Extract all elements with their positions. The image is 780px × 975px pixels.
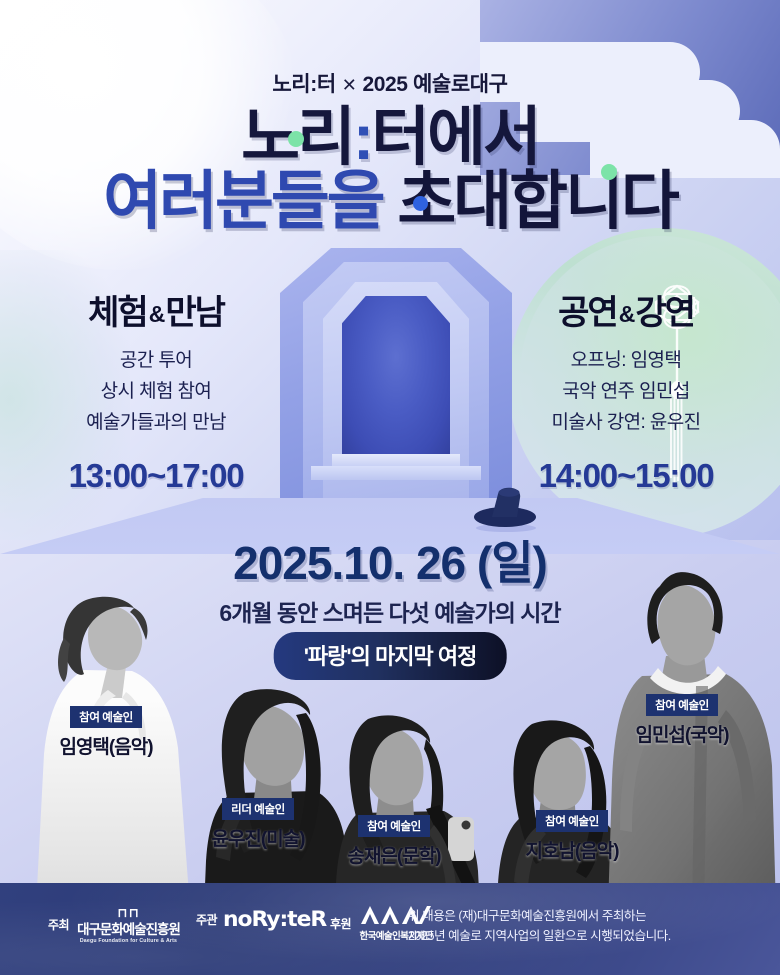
status-badge-role: 참여 예술인 xyxy=(536,810,608,832)
arch-doorway xyxy=(342,296,450,456)
artist-tag-1: 참여 예술인 임영택(음악) xyxy=(30,706,182,759)
list-item: 예술가들과의 만남 xyxy=(22,408,290,439)
noriter-logo: noRy:teR xyxy=(223,907,326,931)
panel-experience: 체험&만남 공간 투어 상시 체험 참여 예술가들과의 만남 13:00~17:… xyxy=(22,296,290,495)
panel-left-heading-a: 체험 xyxy=(88,294,147,332)
host-logo-kr: 대구문화예술진흥원 xyxy=(77,923,180,937)
support-label: 후원 xyxy=(330,915,351,932)
event-poster: 노리:터✕2025 예술로대구 노리:터에서 여러분들을 초대합니다 체험&만남 xyxy=(0,0,780,975)
footer-note-line-1: 위 내용은 (재)대구문화예술진흥원에서 주최하는 xyxy=(408,907,764,927)
panel-left-items: 공간 투어 상시 체험 참여 예술가들과의 만남 xyxy=(22,346,290,439)
ampersand-icon: & xyxy=(147,301,166,327)
blue-dot-icon xyxy=(413,196,428,211)
title2-part-b: 초대합니다 xyxy=(397,165,676,237)
host-logo-en: Daegu Foundation for Culture & Arts xyxy=(77,939,180,944)
page-title-line-1: 노리:터에서 xyxy=(0,104,780,171)
artist-tag-4: 참여 예술인 지호남(음악) xyxy=(496,810,648,863)
panel-right-heading-a: 공연 xyxy=(558,294,617,332)
host-label: 주최 xyxy=(48,916,69,933)
title2-part-a: 여러분들을 xyxy=(103,165,397,237)
list-item: 오프닝: 임영택 xyxy=(492,346,760,377)
title1-part-c: 터에서 xyxy=(371,101,539,173)
manage-credit: 주관 noRy:teR xyxy=(196,907,324,931)
artist-name: 지호남(음악) xyxy=(496,836,648,863)
arch-sill xyxy=(332,454,460,466)
panel-left-heading: 체험&만남 xyxy=(22,296,290,330)
artist-tag-5: 참여 예술인 임민섭(국악) xyxy=(606,694,758,747)
panel-right-heading-b: 강연 xyxy=(635,294,694,332)
panel-right-items: 오프닝: 임영택 국악 연주 임민섭 미술사 강연: 윤우진 xyxy=(492,346,760,439)
artist-tag-3: 참여 예술인 송재은(문학) xyxy=(318,815,470,868)
panel-right-heading: 공연&강연 xyxy=(492,296,760,330)
ampersand-icon-2: & xyxy=(617,301,636,327)
panel-left-heading-b: 만남 xyxy=(165,294,224,332)
kicker-x-icon: ✕ xyxy=(336,75,363,95)
panel-right-time: 14:00~15:00 xyxy=(492,457,760,495)
footer-note: 위 내용은 (재)대구문화예술진흥원에서 주최하는 2025년 예술로 지역사업… xyxy=(408,907,764,946)
status-badge-role: 참여 예술인 xyxy=(646,694,718,716)
artist-tag-2: 리더 예술인 윤우진(미술) xyxy=(182,798,334,851)
footer-bar: 주최 ⊓⊓ 대구문화예술진흥원 Daegu Foundation for Cul… xyxy=(0,883,780,975)
list-item: 상시 체험 참여 xyxy=(22,377,290,408)
green-dot-icon xyxy=(288,131,304,147)
list-item: 공간 투어 xyxy=(22,346,290,377)
list-item: 국악 연주 임민섭 xyxy=(492,377,760,408)
daegu-foundation-logo: ⊓⊓ 대구문화예술진흥원 Daegu Foundation for Cultur… xyxy=(77,905,180,944)
panel-performance: 공연&강연 오프닝: 임영택 국악 연주 임민섭 미술사 강연: 윤우진 14:… xyxy=(492,296,760,495)
title1-colon: : xyxy=(353,101,371,173)
footer-note-line-2: 2025년 예술로 지역사업의 일환으로 시행되었습니다. xyxy=(408,927,764,947)
arch-step xyxy=(311,466,481,480)
status-badge-role: 참여 예술인 xyxy=(358,815,430,837)
page-title-line-2: 여러분들을 초대합니다 xyxy=(0,168,780,235)
list-item: 미술사 강연: 윤우진 xyxy=(492,408,760,439)
artist-portrait-3 xyxy=(330,705,500,910)
artist-name: 임민섭(국악) xyxy=(606,720,758,747)
manage-label: 주관 xyxy=(196,911,217,928)
kicker-line: 노리:터✕2025 예술로대구 xyxy=(0,68,780,98)
status-badge-role: 리더 예술인 xyxy=(222,798,294,820)
artist-name: 윤우진(미술) xyxy=(182,824,334,851)
green-dot-icon-2 xyxy=(601,164,617,180)
panel-left-time: 13:00~17:00 xyxy=(22,457,290,495)
artist-name: 임영택(음악) xyxy=(30,732,182,759)
status-badge-role: 참여 예술인 xyxy=(70,706,142,728)
artist-name: 송재은(문학) xyxy=(318,841,470,868)
host-credit: 주최 ⊓⊓ 대구문화예술진흥원 Daegu Foundation for Cul… xyxy=(48,905,180,944)
archway-portal-graphic xyxy=(276,248,516,504)
dgfca-mark-icon: ⊓⊓ xyxy=(117,905,140,920)
kicker-brand: 노리:터 xyxy=(272,73,335,96)
kicker-program: 2025 예술로대구 xyxy=(362,73,507,96)
